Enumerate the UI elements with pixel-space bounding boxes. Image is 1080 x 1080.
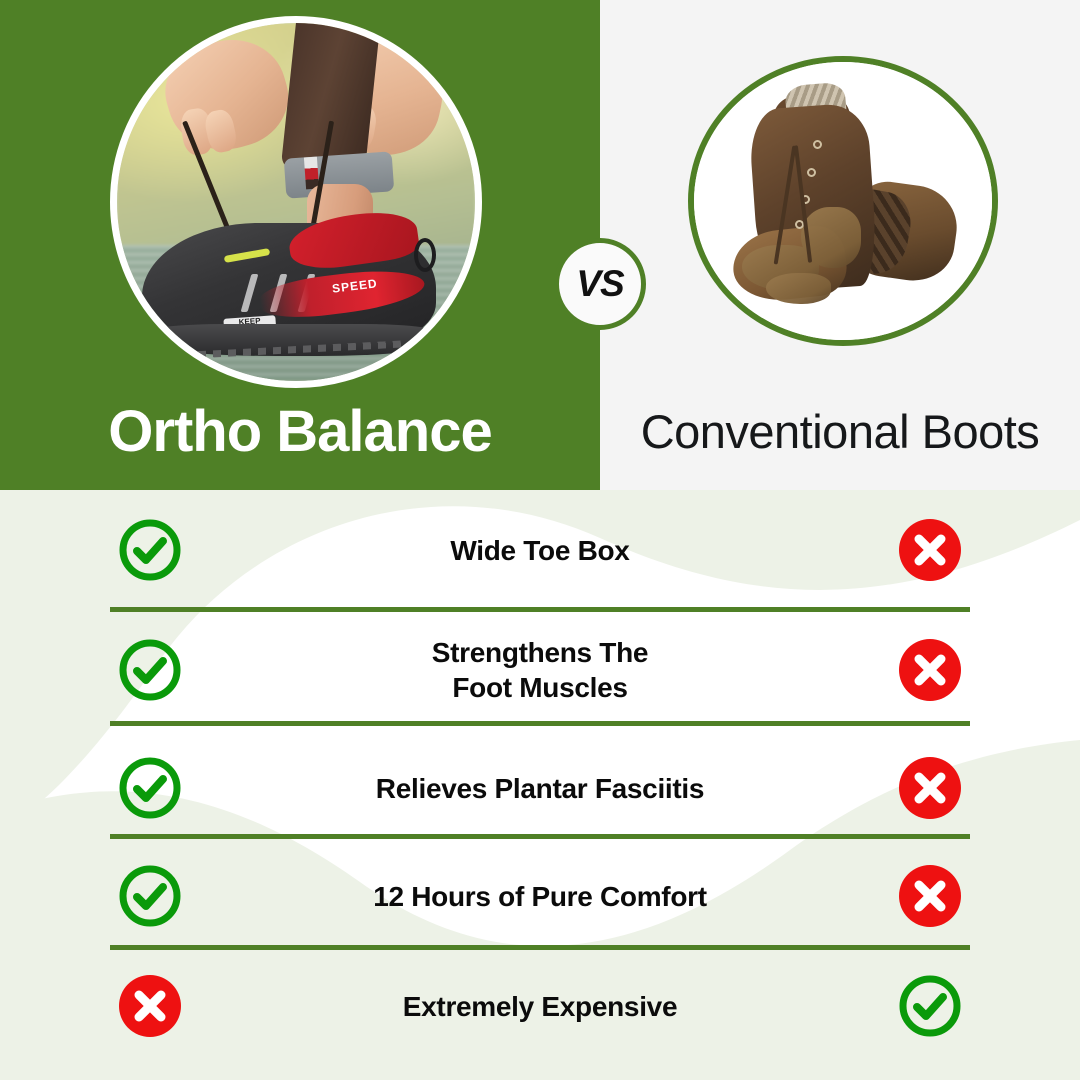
row-divider bbox=[110, 721, 970, 726]
row-2-right-mark bbox=[780, 639, 1080, 701]
table-row: Extremely Expensive bbox=[0, 958, 1080, 1054]
row-3-right-mark bbox=[780, 757, 1080, 819]
table-row: Wide Toe Box bbox=[0, 500, 1080, 600]
header-section: SPEED KEEP bbox=[0, 0, 1080, 490]
row-2-label: Strengthens The Foot Muscles bbox=[300, 635, 780, 705]
feature-rows: Wide Toe Box Strengthens The F bbox=[0, 490, 1080, 1080]
row-5-right-mark bbox=[780, 973, 1080, 1039]
row-1-right-mark bbox=[780, 519, 1080, 581]
check-icon bbox=[117, 863, 183, 929]
row-3-left-mark bbox=[0, 755, 300, 821]
ortho-balance-product-image: SPEED KEEP bbox=[110, 16, 482, 388]
shoe-heel-tab bbox=[414, 238, 436, 272]
cross-icon bbox=[899, 757, 961, 819]
conventional-boots-product-image bbox=[688, 56, 998, 346]
vs-label: VS bbox=[576, 263, 623, 305]
cross-icon bbox=[899, 639, 961, 701]
mud-clump-3 bbox=[766, 273, 832, 304]
table-row: Relieves Plantar Fasciitis bbox=[0, 740, 1080, 836]
row-5-label: Extremely Expensive bbox=[300, 989, 780, 1024]
row-3-label: Relieves Plantar Fasciitis bbox=[300, 771, 780, 806]
vs-badge: VS bbox=[554, 238, 646, 330]
hiking-boots-photo bbox=[694, 62, 992, 340]
row-4-left-mark bbox=[0, 863, 300, 929]
right-product-title: Conventional Boots bbox=[600, 404, 1080, 459]
cross-icon bbox=[899, 519, 961, 581]
row-2-left-mark bbox=[0, 637, 300, 703]
row-divider bbox=[110, 945, 970, 950]
row-1-left-mark bbox=[0, 517, 300, 583]
check-icon bbox=[897, 973, 963, 1039]
comparison-table: Wide Toe Box Strengthens The F bbox=[0, 490, 1080, 1080]
cross-icon bbox=[899, 865, 961, 927]
row-1-label: Wide Toe Box bbox=[300, 533, 780, 568]
table-row: 12 Hours of Pure Comfort bbox=[0, 848, 1080, 944]
comparison-infographic: SPEED KEEP bbox=[0, 0, 1080, 1080]
table-row: Strengthens The Foot Muscles bbox=[0, 618, 1080, 722]
check-icon bbox=[117, 637, 183, 703]
check-icon bbox=[117, 517, 183, 583]
check-icon bbox=[117, 755, 183, 821]
row-divider bbox=[110, 607, 970, 612]
cross-icon bbox=[119, 975, 181, 1037]
row-5-left-mark bbox=[0, 975, 300, 1037]
left-product-title: Ortho Balance bbox=[0, 398, 600, 465]
row-4-right-mark bbox=[780, 865, 1080, 927]
running-shoe-photo: SPEED KEEP bbox=[117, 23, 475, 381]
row-divider bbox=[110, 834, 970, 839]
row-4-label: 12 Hours of Pure Comfort bbox=[300, 879, 780, 914]
